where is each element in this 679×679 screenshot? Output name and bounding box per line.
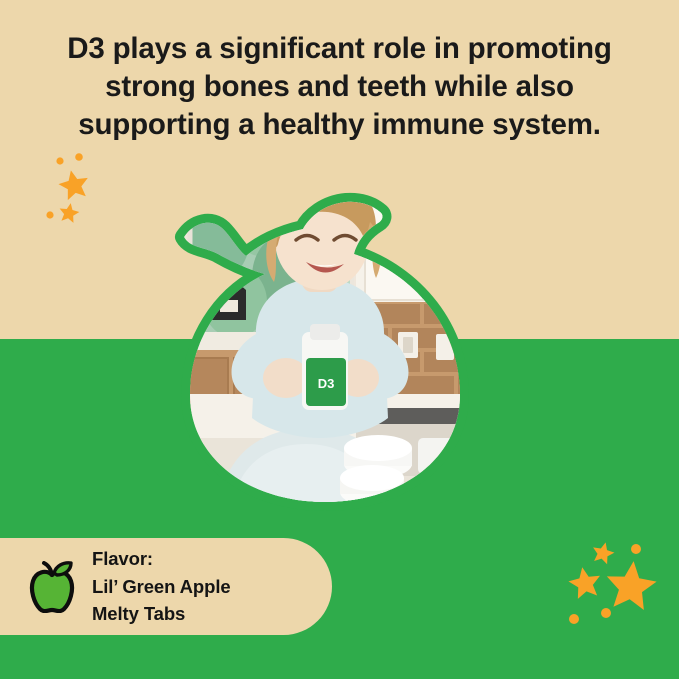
flavor-label: Flavor: bbox=[92, 545, 231, 573]
green-apple-icon bbox=[28, 561, 76, 613]
headline: D3 plays a significant role in promoting… bbox=[0, 30, 679, 144]
svg-text:D3: D3 bbox=[318, 376, 335, 391]
supplement-bottle: D3 bbox=[302, 324, 348, 410]
apple-photo-svg: D3 bbox=[160, 182, 490, 512]
flavor-value-line-1: Lil’ Green Apple bbox=[92, 573, 231, 601]
headline-line-1: D3 plays a significant role in promoting bbox=[0, 30, 679, 68]
infographic-canvas: D3 plays a significant role in promoting… bbox=[0, 0, 679, 679]
product-photo: D3 bbox=[160, 182, 490, 512]
flavor-card: Flavor: Lil’ Green Apple Melty Tabs bbox=[0, 538, 332, 635]
flavor-text-block: Flavor: Lil’ Green Apple Melty Tabs bbox=[92, 545, 231, 628]
flavor-value-line-2: Melty Tabs bbox=[92, 600, 231, 628]
headline-line-3: supporting a healthy immune system. bbox=[0, 106, 679, 144]
headline-line-2: strong bones and teeth while also bbox=[0, 68, 679, 106]
